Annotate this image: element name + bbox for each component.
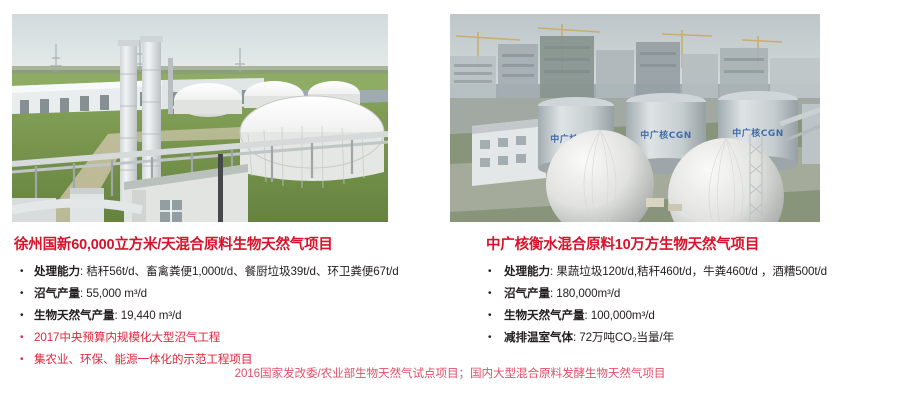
bullet-label: 处理能力 xyxy=(504,265,550,278)
bullet-item: 沼气产量: 180,000m³/d xyxy=(460,283,895,305)
bullet-value: 2017中央预算内规模化大型沼气工程 xyxy=(34,331,220,344)
photo-right-graphic: 中广核CGN 中广核CGN 中广核CGN xyxy=(450,14,820,222)
project-title-hengshui: 中广核衡水混合原料10万方生物天然气项目 xyxy=(460,236,895,254)
project-info-xuzhou: 徐州国新60,000立方米/天混合原料生物天然气项目 处理能力: 秸秆56t/d… xyxy=(14,236,434,371)
bullet-item: 2017中央预算内规模化大型沼气工程 xyxy=(14,327,434,349)
bullet-label: 生物天然气产量 xyxy=(504,309,584,322)
bullet-value: 72万吨CO₂当量/年 xyxy=(579,331,674,344)
bullet-label: 沼气产量 xyxy=(34,287,80,300)
bullet-label: 生物天然气产量 xyxy=(34,309,114,322)
project-bullets-xuzhou: 处理能力: 秸秆56t/d、畜禽粪便1,000t/d、餐厨垃圾39t/d、环卫粪… xyxy=(14,261,434,371)
bullet-label: 减排温室气体 xyxy=(504,331,573,344)
bullet-value: 100,000m³/d xyxy=(591,309,655,322)
bullet-value: 180,000m³/d xyxy=(556,287,620,300)
project-bullets-hengshui: 处理能力: 果蔬垃圾120t/d,秸秆460t/d，牛粪460t/d ，酒糟50… xyxy=(460,261,895,349)
project-photo-hengshui: 中广核CGN 中广核CGN 中广核CGN xyxy=(450,14,820,222)
bullet-value: 果蔬垃圾120t/d,秸秆460t/d，牛粪460t/d ，酒糟500t/d xyxy=(556,265,827,278)
bullet-value: 55,000 m³/d xyxy=(86,287,147,300)
bullet-item: 处理能力: 果蔬垃圾120t/d,秸秆460t/d，牛粪460t/d ，酒糟50… xyxy=(460,261,895,283)
bullet-item: 沼气产量: 55,000 m³/d xyxy=(14,283,434,305)
bullet-value: 19,440 m³/d xyxy=(121,309,182,322)
project-info-hengshui: 中广核衡水混合原料10万方生物天然气项目 处理能力: 果蔬垃圾120t/d,秸秆… xyxy=(460,236,895,349)
bullet-label: 沼气产量 xyxy=(504,287,550,300)
bullet-label: 处理能力 xyxy=(34,265,80,278)
photo-left-graphic xyxy=(12,14,388,222)
bullet-item: 生物天然气产量: 100,000m³/d xyxy=(460,305,895,327)
bullet-value: 秸秆56t/d、畜禽粪便1,000t/d、餐厨垃圾39t/d、环卫粪便67t/d xyxy=(86,265,398,278)
bullet-value: 集农业、环保、能源一体化的示范工程项目 xyxy=(34,353,252,366)
bullet-item: 处理能力: 秸秆56t/d、畜禽粪便1,000t/d、餐厨垃圾39t/d、环卫粪… xyxy=(14,261,434,283)
project-photo-xuzhou xyxy=(12,14,388,222)
bullet-item: 减排温室气体: 72万吨CO₂当量/年 xyxy=(460,327,895,349)
bullet-item: 生物天然气产量: 19,440 m³/d xyxy=(14,305,434,327)
project-footnote: 2016国家发改委/农业部生物天然气试点项目；国内大型混合原料发酵生物天然气项目 xyxy=(0,366,900,382)
project-title-xuzhou: 徐州国新60,000立方米/天混合原料生物天然气项目 xyxy=(14,236,434,254)
